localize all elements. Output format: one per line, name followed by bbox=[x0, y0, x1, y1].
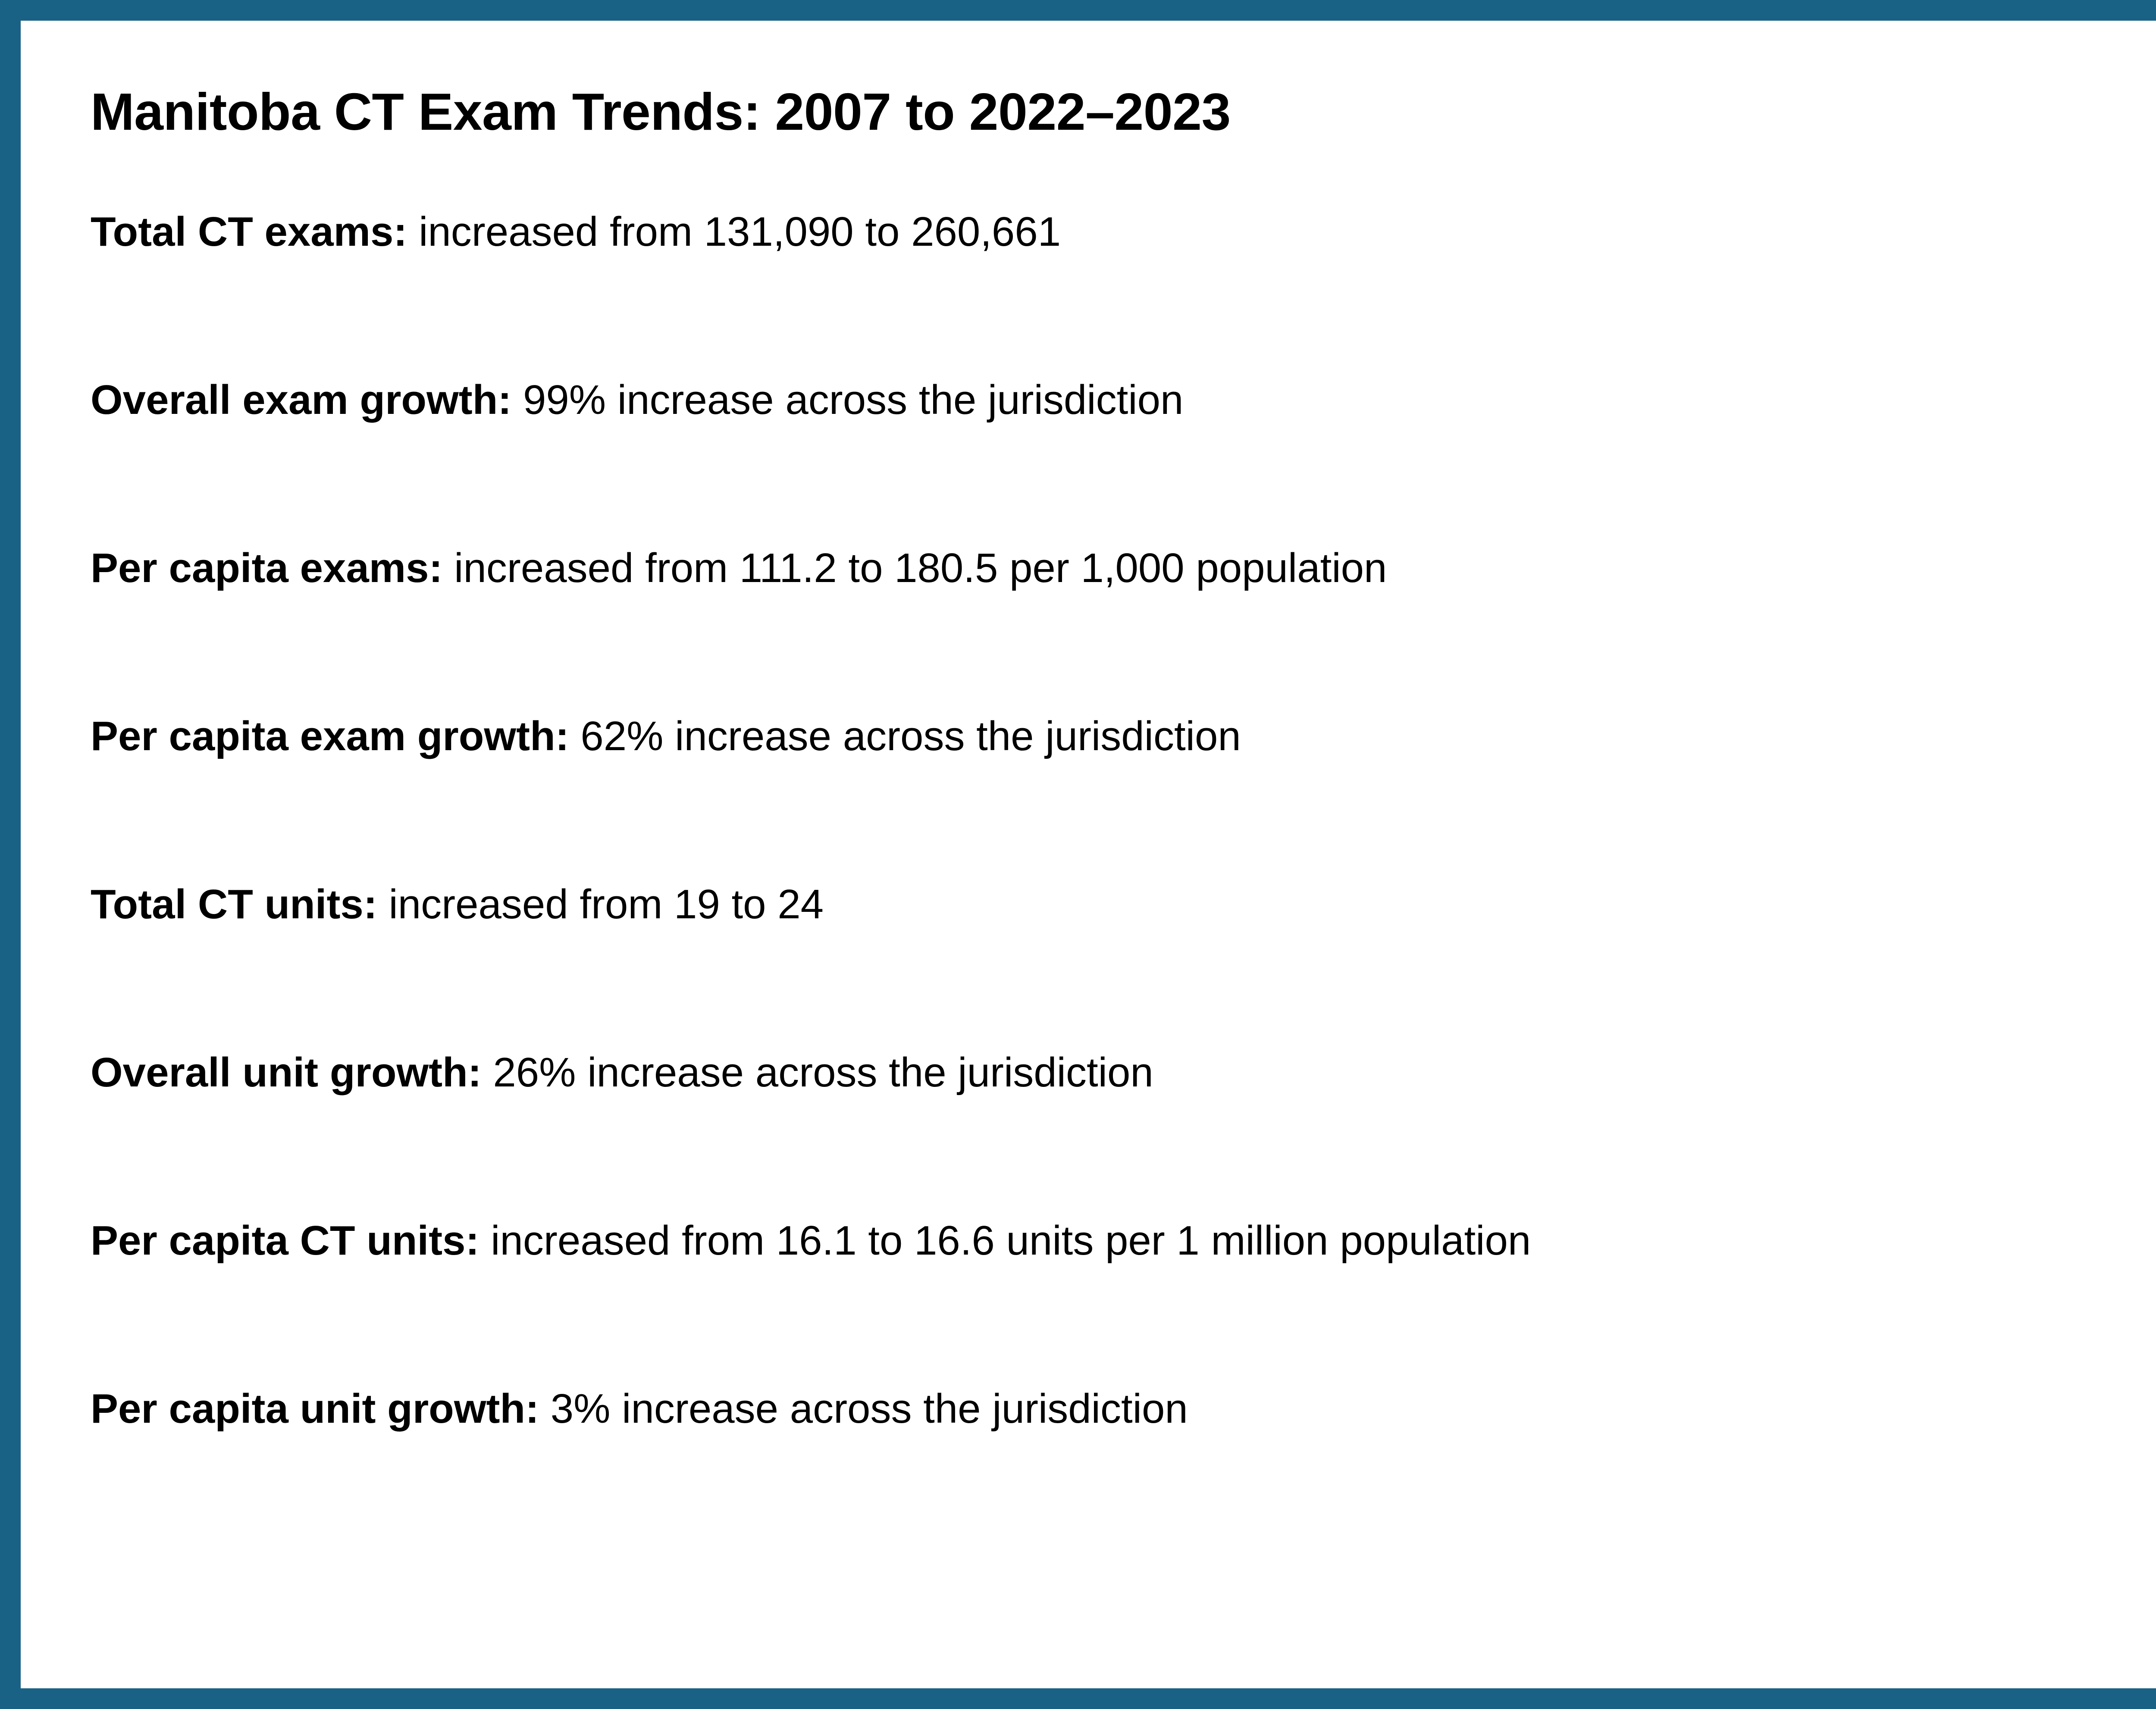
stat-label-per-capita-exams: Per capita exams: bbox=[91, 545, 442, 591]
stat-value-total-ct-exams: increased from 131,090 to 260,661 bbox=[419, 209, 1061, 255]
stat-label-overall-unit-growth: Overall unit growth: bbox=[91, 1049, 482, 1096]
stat-value-per-capita-unit-growth: 3% increase across the jurisdiction bbox=[551, 1386, 1188, 1432]
list-item: Per capita exam growth: 62% increase acr… bbox=[91, 716, 2156, 757]
stat-label-per-capita-unit-growth: Per capita unit growth: bbox=[91, 1386, 539, 1432]
stat-value-overall-exam-growth: 99% increase across the jurisdiction bbox=[523, 377, 1183, 423]
list-item: Total CT units: increased from 19 to 24 bbox=[91, 884, 2156, 925]
stat-label-total-ct-exams: Total CT exams: bbox=[91, 209, 407, 255]
stat-label-total-ct-units: Total CT units: bbox=[91, 881, 377, 927]
stat-value-overall-unit-growth: 26% increase across the jurisdiction bbox=[493, 1049, 1153, 1096]
stat-label-per-capita-ct-units: Per capita CT units: bbox=[91, 1218, 479, 1264]
stat-value-per-capita-exam-growth: 62% increase across the jurisdiction bbox=[580, 713, 1241, 759]
stat-label-overall-exam-growth: Overall exam growth: bbox=[91, 377, 511, 423]
page-title: Manitoba CT Exam Trends: 2007 to 2022–20… bbox=[91, 72, 2156, 141]
list-item: Total CT exams: increased from 131,090 t… bbox=[91, 211, 2156, 253]
list-item: Overall unit growth: 26% increase across… bbox=[91, 1052, 2156, 1093]
list-item: Per capita exams: increased from 111.2 t… bbox=[91, 548, 2156, 589]
stat-value-per-capita-ct-units: increased from 16.1 to 16.6 units per 1 … bbox=[491, 1218, 1531, 1264]
ct-exam-trends-summary-card: Manitoba CT Exam Trends: 2007 to 2022–20… bbox=[0, 0, 2156, 1709]
list-item: Per capita unit growth: 3% increase acro… bbox=[91, 1388, 2156, 1430]
stat-value-total-ct-units: increased from 19 to 24 bbox=[389, 881, 824, 927]
list-item: Overall exam growth: 99% increase across… bbox=[91, 379, 2156, 421]
stat-label-per-capita-exam-growth: Per capita exam growth: bbox=[91, 713, 569, 759]
statistics-list: Total CT exams: increased from 131,090 t… bbox=[85, 141, 2156, 1430]
stat-value-per-capita-exams: increased from 111.2 to 180.5 per 1,000 … bbox=[454, 545, 1387, 591]
list-item: Per capita CT units: increased from 16.1… bbox=[91, 1220, 2156, 1261]
